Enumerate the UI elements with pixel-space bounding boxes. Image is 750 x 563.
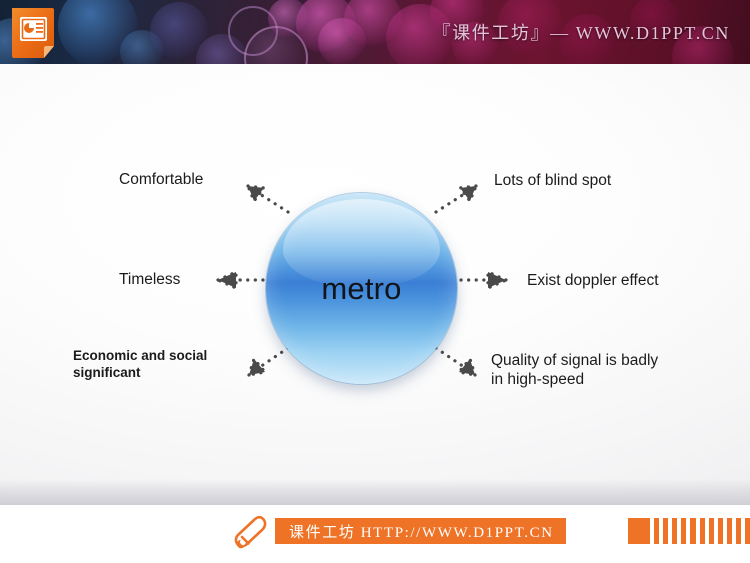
branch-label-signal-quality[interactable]: Quality of signal is badly in high-speed xyxy=(491,351,658,389)
footer-stripe xyxy=(745,518,750,544)
footer-stripe xyxy=(672,518,677,544)
bokeh-ring xyxy=(228,6,278,56)
header-title: 『课件工坊』— WWW.D1PPT.CN xyxy=(433,19,731,45)
bokeh-circle xyxy=(58,0,138,64)
bokeh-circle xyxy=(268,0,308,38)
footer-stripe xyxy=(700,518,705,544)
bokeh-circle xyxy=(196,34,248,64)
header-banner: 『课件工坊』— WWW.D1PPT.CN xyxy=(0,0,750,64)
footer-stripe xyxy=(718,518,723,544)
branch-label-blind-spot[interactable]: Lots of blind spot xyxy=(494,171,611,190)
branch-label-economic-social[interactable]: Economic and social significant xyxy=(73,347,207,381)
footer-stripe xyxy=(690,518,695,544)
footer-bar: 课件工坊 HTTP://WWW.D1PPT.CN xyxy=(0,505,750,563)
footer-stripe xyxy=(709,518,714,544)
bokeh-circle xyxy=(150,2,208,60)
slide-body: metro Comfortable Timeless Economic and … xyxy=(0,64,750,505)
footer-stripe xyxy=(736,518,741,544)
footer-url-bar[interactable]: 课件工坊 HTTP://WWW.D1PPT.CN xyxy=(275,518,566,544)
powerpoint-document-icon xyxy=(8,6,64,62)
footer-stripe xyxy=(628,518,650,544)
center-node-label: metro xyxy=(266,193,457,384)
footer-stripes xyxy=(628,518,750,544)
footer-stripe xyxy=(681,518,686,544)
branch-label-comfortable[interactable]: Comfortable xyxy=(119,170,203,189)
branch-label-doppler[interactable]: Exist doppler effect xyxy=(527,271,659,290)
footer-stripe xyxy=(663,518,668,544)
bokeh-circle xyxy=(344,0,402,48)
pen-icon xyxy=(232,513,272,553)
center-node-circle[interactable]: metro xyxy=(266,193,457,384)
bokeh-circle xyxy=(296,0,356,54)
footer-stripe xyxy=(727,518,732,544)
bokeh-circle xyxy=(318,18,366,64)
footer-stripe xyxy=(654,518,659,544)
bokeh-circle xyxy=(120,30,164,64)
branch-label-timeless[interactable]: Timeless xyxy=(119,270,180,289)
bokeh-ring xyxy=(244,26,308,64)
